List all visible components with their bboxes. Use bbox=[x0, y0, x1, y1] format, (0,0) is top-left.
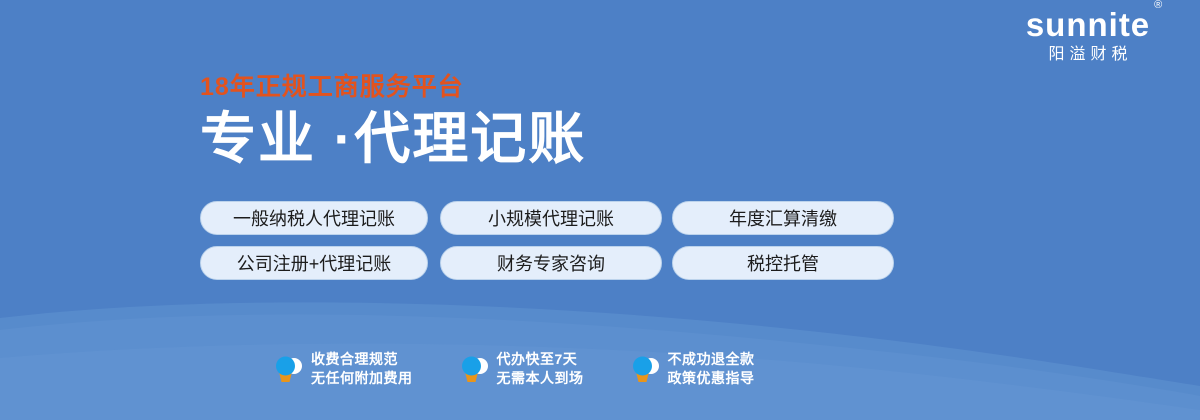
service-pill[interactable]: 小规模代理记账 bbox=[440, 201, 662, 235]
service-pill[interactable]: 公司注册+代理记账 bbox=[200, 246, 428, 280]
feature-line-1: 收费合理规范 bbox=[311, 350, 413, 369]
service-pill[interactable]: 税控托管 bbox=[672, 246, 894, 280]
service-pill-row: 一般纳税人代理记账 小规模代理记账 年度汇算清缴 bbox=[200, 201, 894, 235]
service-pill[interactable]: 一般纳税人代理记账 bbox=[200, 201, 428, 235]
service-pill-row: 公司注册+代理记账 财务专家咨询 税控托管 bbox=[200, 246, 894, 280]
brand-logo[interactable]: sunnite ® 阳溢财税 bbox=[998, 6, 1178, 65]
feature-line-2: 无需本人到场 bbox=[497, 369, 584, 388]
hero-tagline: 18年正规工商服务平台 bbox=[200, 72, 586, 102]
moon-circle-icon bbox=[272, 353, 302, 385]
feature-line-2: 政策优惠指导 bbox=[668, 369, 755, 388]
service-pill[interactable]: 年度汇算清缴 bbox=[672, 201, 894, 235]
moon-circle-icon bbox=[629, 353, 659, 385]
hero-headline: 专业 ·代理记账 bbox=[200, 106, 586, 172]
feature-line-1: 不成功退全款 bbox=[668, 350, 755, 369]
feature-item: 不成功退全款 政策优惠指导 bbox=[629, 350, 755, 388]
logo-wordmark: sunnite ® bbox=[1026, 6, 1150, 44]
registered-trademark-icon: ® bbox=[1154, 0, 1163, 11]
feature-text: 不成功退全款 政策优惠指导 bbox=[668, 350, 755, 388]
feature-item: 收费合理规范 无任何附加费用 bbox=[272, 350, 413, 388]
feature-text: 代办快至7天 无需本人到场 bbox=[497, 350, 584, 388]
service-pill[interactable]: 财务专家咨询 bbox=[440, 246, 662, 280]
promo-banner: sunnite ® 阳溢财税 18年正规工商服务平台 专业 ·代理记账 一般纳税… bbox=[0, 0, 1200, 420]
feature-line-1: 代办快至7天 bbox=[497, 350, 584, 369]
logo-wordmark-text: sunnite bbox=[1026, 6, 1150, 43]
feature-text: 收费合理规范 无任何附加费用 bbox=[311, 350, 413, 388]
logo-subtitle: 阳溢财税 bbox=[998, 45, 1178, 65]
moon-circle-icon bbox=[458, 353, 488, 385]
feature-list: 收费合理规范 无任何附加费用 代办快至7天 无需本人到场 不成功退全款 bbox=[272, 350, 755, 388]
feature-line-2: 无任何附加费用 bbox=[311, 369, 413, 388]
hero-text-block: 18年正规工商服务平台 专业 ·代理记账 bbox=[200, 72, 586, 172]
feature-item: 代办快至7天 无需本人到场 bbox=[458, 350, 584, 388]
service-pill-group: 一般纳税人代理记账 小规模代理记账 年度汇算清缴 公司注册+代理记账 财务专家咨… bbox=[200, 201, 894, 291]
